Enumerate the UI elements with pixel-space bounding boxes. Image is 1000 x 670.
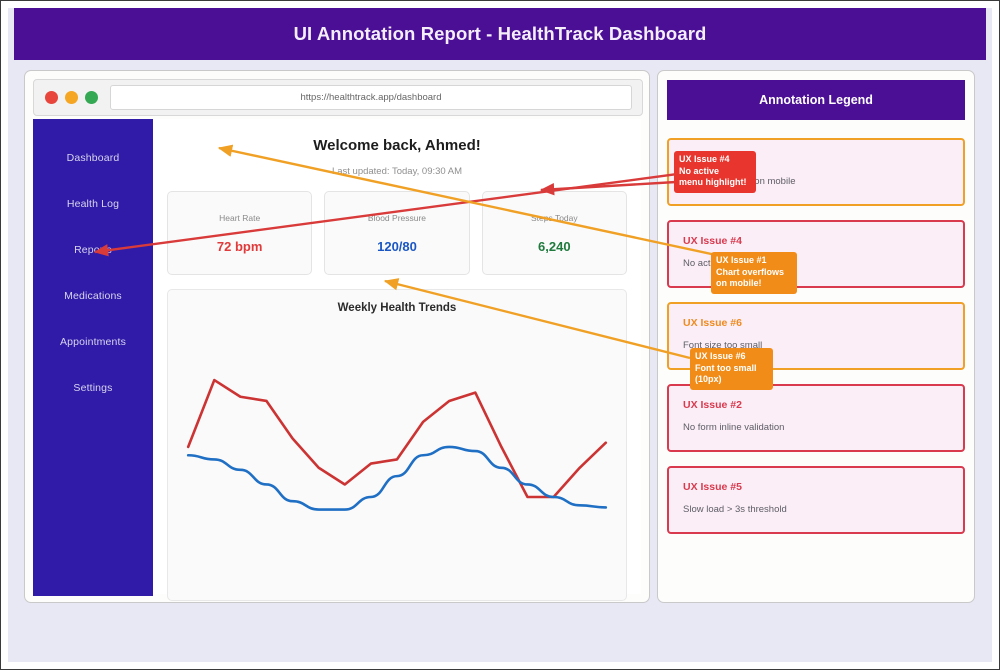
metric-card-steps-today[interactable]: Steps Today 6,240 — [482, 191, 627, 275]
sidebar-item-settings[interactable]: Settings — [33, 365, 153, 411]
url-bar[interactable]: https://healthtrack.app/dashboard — [110, 85, 632, 110]
app-sidebar: Dashboard Health Log Reports Medications… — [33, 119, 153, 596]
sidebar-item-medications[interactable]: Medications — [33, 273, 153, 319]
sidebar-item-reports[interactable]: Reports — [33, 227, 153, 273]
annotation-legend-panel: Annotation Legend UX Issue #3Contrast to… — [657, 70, 975, 603]
metric-value: 120/80 — [377, 239, 417, 254]
sidebar-item-label: Health Log — [67, 198, 119, 210]
metric-label: Steps Today — [531, 213, 578, 223]
welcome-heading: Welcome back, Ahmed! — [167, 137, 627, 154]
browser-chrome: https://healthtrack.app/dashboard — [33, 79, 643, 116]
chart-title: Weekly Health Trends — [168, 290, 626, 314]
maximize-dot-icon[interactable] — [85, 91, 98, 104]
sidebar-item-label: Reports — [74, 244, 112, 256]
report-banner: UI Annotation Report - HealthTrack Dashb… — [14, 8, 986, 60]
close-dot-icon[interactable] — [45, 91, 58, 104]
callout-issue-6: UX Issue #6 Font too small (10px) — [690, 348, 773, 390]
metric-card-blood-pressure[interactable]: Blood Pressure 120/80 — [324, 191, 469, 275]
legend-header: Annotation Legend — [667, 80, 965, 120]
metric-label: Heart Rate — [219, 213, 260, 223]
legend-card-title: UX Issue #4 — [683, 235, 949, 247]
sidebar-item-appointments[interactable]: Appointments — [33, 319, 153, 365]
chart-series-line — [188, 447, 606, 510]
chart-series-line — [188, 380, 606, 497]
legend-card-title: UX Issue #6 — [683, 317, 949, 329]
sidebar-item-label: Settings — [73, 382, 112, 394]
legend-card-description: No form inline validation — [683, 422, 949, 433]
report-page: UI Annotation Report - HealthTrack Dashb… — [0, 0, 1000, 670]
minimize-dot-icon[interactable] — [65, 91, 78, 104]
metric-value: 6,240 — [538, 239, 571, 254]
legend-card[interactable]: UX Issue #2No form inline validation — [667, 384, 965, 452]
page-title: UI Annotation Report - HealthTrack Dashb… — [294, 23, 707, 45]
metric-card-heart-rate[interactable]: Heart Rate 72 bpm — [167, 191, 312, 275]
app-main-content: Welcome back, Ahmed! Last updated: Today… — [153, 119, 641, 594]
callout-issue-4: UX Issue #4 No active menu highlight! — [674, 151, 756, 193]
callout-issue-1: UX Issue #1 Chart overflows on mobile! — [711, 252, 797, 294]
metric-label: Blood Pressure — [368, 213, 426, 223]
legend-card-description: Slow load > 3s threshold — [683, 504, 949, 515]
sidebar-item-health-log[interactable]: Health Log — [33, 181, 153, 227]
last-updated-text: Last updated: Today, 09:30 AM — [167, 166, 627, 177]
url-text: https://healthtrack.app/dashboard — [300, 92, 441, 103]
sidebar-item-dashboard[interactable]: Dashboard — [33, 135, 153, 181]
legend-header-title: Annotation Legend — [759, 93, 873, 107]
sidebar-item-label: Dashboard — [67, 152, 120, 164]
legend-card[interactable]: UX Issue #5Slow load > 3s threshold — [667, 466, 965, 534]
metric-value: 72 bpm — [217, 239, 263, 254]
sidebar-item-label: Medications — [64, 290, 122, 302]
browser-mockup-panel: https://healthtrack.app/dashboard Dashbo… — [24, 70, 650, 603]
sidebar-item-label: Appointments — [60, 336, 126, 348]
weekly-health-trends-chart-card: Weekly Health Trends — [167, 289, 627, 601]
legend-card-list: UX Issue #3Contrast too low on mobileUX … — [667, 138, 965, 534]
metric-card-row: Heart Rate 72 bpm Blood Pressure 120/80 … — [167, 191, 627, 275]
legend-card-title: UX Issue #5 — [683, 481, 949, 493]
chart-plot — [174, 324, 620, 553]
legend-card-title: UX Issue #2 — [683, 399, 949, 411]
